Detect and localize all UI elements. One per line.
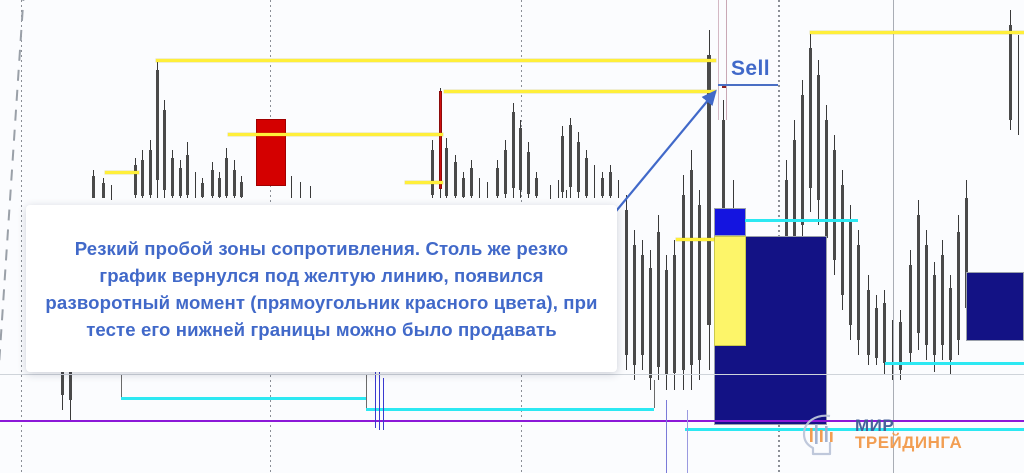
candle-body (857, 245, 860, 340)
sell-entry-line (718, 84, 778, 86)
candle-body (933, 275, 936, 355)
level-anchor (121, 374, 122, 397)
resistance-level (810, 31, 1024, 34)
candle-wick (550, 185, 551, 199)
candle-body (577, 142, 580, 192)
support-level (366, 408, 654, 411)
candle-body (909, 265, 912, 353)
candle-wick (479, 178, 480, 198)
candle-body (163, 110, 166, 190)
candle-body (496, 168, 499, 196)
candle-body (849, 220, 852, 325)
candle-body (925, 245, 928, 345)
candle-body (867, 290, 870, 355)
candle-body (156, 70, 159, 180)
supply-zone-yellow (714, 236, 746, 346)
candle-wick (566, 190, 567, 198)
candle-body (431, 150, 434, 195)
candle-body (633, 245, 636, 365)
candle-body (218, 178, 221, 197)
candle-body (625, 210, 628, 355)
support-level (885, 362, 1024, 365)
watermark-text: МИР ТРЕЙДИНГА (855, 417, 962, 451)
candle-wick (310, 186, 311, 198)
resistance-level (228, 133, 443, 136)
candle-wick (558, 180, 559, 198)
indicator-line (383, 378, 384, 430)
watermark-line2: ТРЕЙДИНГА (855, 434, 962, 451)
resistance-level (676, 238, 714, 241)
candle-body (657, 232, 660, 367)
candle-body (1009, 25, 1012, 120)
candle-body (512, 112, 515, 188)
candle-body (171, 158, 174, 196)
sell-pointer-arrow (600, 80, 730, 230)
bearish-reversal-zone (256, 119, 286, 186)
candle-body (809, 48, 812, 188)
candle-body (673, 255, 676, 373)
candle-body (470, 168, 473, 196)
support-level (745, 219, 858, 222)
candle-body (641, 255, 644, 355)
candle-body (92, 176, 95, 198)
candle-body (817, 75, 820, 200)
candle-body (519, 128, 522, 190)
level-anchor (366, 374, 367, 408)
watermark: МИР ТРЕЙДИНГА (800, 412, 962, 456)
candle-body (201, 183, 204, 197)
grid-line-vertical (893, 0, 894, 473)
candle-body (233, 170, 236, 196)
annotation-callout: Резкий пробой зоны сопротивления. Столь … (26, 205, 617, 372)
candle-body (883, 303, 886, 363)
pane-separator (0, 374, 1024, 375)
resistance-level (105, 171, 139, 174)
candle-wick (291, 176, 292, 198)
candle-body (535, 178, 538, 196)
annotation-text: Резкий пробой зоны сопротивления. Столь … (26, 235, 617, 343)
candle-body (225, 158, 228, 196)
level-anchor (654, 380, 655, 408)
candle-body (454, 162, 457, 196)
candle-body (102, 183, 105, 198)
watermark-line1: МИР (855, 417, 962, 434)
candle-body (941, 255, 944, 345)
resistance-level (156, 59, 716, 62)
candle-body-bearish (439, 91, 442, 189)
head-candlestick-logo-icon (800, 412, 846, 456)
candle-wick (487, 182, 488, 198)
candle-body (504, 150, 507, 194)
candle-wick (195, 172, 196, 198)
candle-wick (1018, 35, 1019, 135)
candle-body (240, 182, 243, 197)
candle-body (134, 165, 137, 195)
candle-body (649, 268, 652, 378)
candle-body (561, 136, 564, 192)
candle-wick (594, 165, 595, 198)
candle-body (665, 270, 668, 375)
sell-label: Sell (731, 57, 770, 81)
candle-body (179, 168, 182, 196)
candle-body (186, 155, 189, 195)
candle-body (527, 152, 530, 194)
candle-body (211, 170, 214, 196)
candle-body (957, 232, 960, 340)
support-level (121, 397, 366, 400)
candle-body (569, 125, 572, 187)
demand-zone-right (966, 272, 1024, 341)
candle-body (141, 160, 144, 196)
resistance-level (405, 181, 443, 184)
candle-wick (300, 182, 301, 198)
candle-body (445, 148, 448, 196)
indicator-line (379, 372, 380, 430)
indicator-line (687, 410, 688, 473)
candle-body (149, 150, 152, 195)
candle-wick (111, 185, 112, 200)
indicator-line (375, 368, 376, 428)
candle-body (949, 288, 952, 360)
candle-body (462, 178, 465, 197)
candle-body (833, 150, 836, 260)
candle-wick (892, 320, 893, 380)
candle-body (585, 158, 588, 196)
chart-screenshot: Sell Резкий пробой зоны сопротивления. С… (0, 0, 1024, 473)
candle-body (875, 308, 878, 358)
candle-body (801, 95, 804, 225)
candle-body (841, 185, 844, 295)
indicator-line (666, 400, 667, 473)
candle-body (917, 215, 920, 333)
